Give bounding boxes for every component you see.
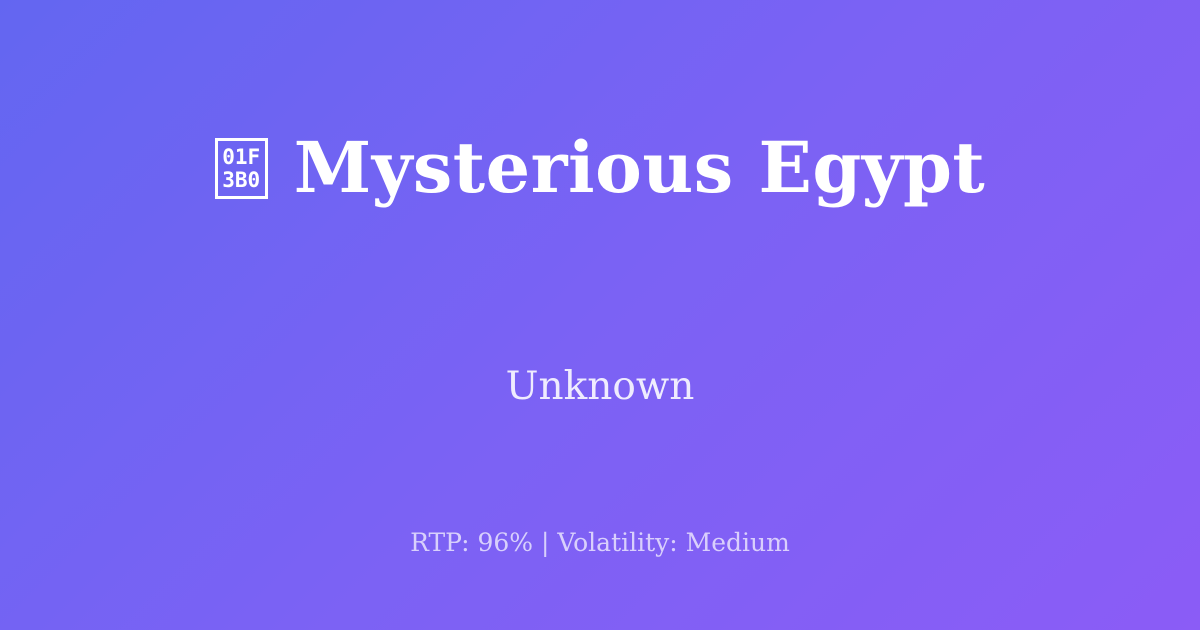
game-stats-footer: RTP: 96% | Volatility: Medium (0, 527, 1200, 559)
game-preview-card: 01F 3B0 Mysterious Egypt Unknown RTP: 96… (0, 0, 1200, 630)
tofu-codepoint-row-top: 01F (222, 146, 260, 169)
game-provider-subtitle: Unknown (0, 362, 1200, 412)
slot-machine-emoji-icon: 01F 3B0 (215, 138, 268, 199)
title-row: 01F 3B0 Mysterious Egypt (0, 0, 1200, 336)
tofu-codepoint-row-bottom: 3B0 (222, 169, 260, 192)
page-title: Mysterious Egypt (294, 133, 986, 203)
